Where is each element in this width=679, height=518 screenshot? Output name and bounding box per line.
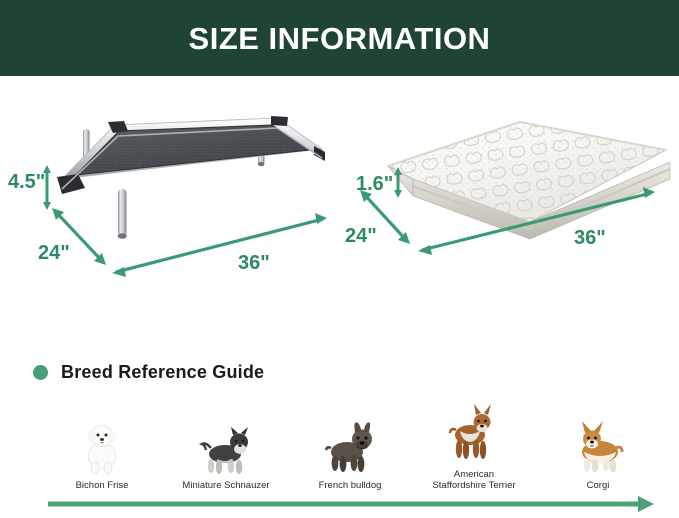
arrow-right-icon: [0, 492, 679, 518]
dog-bed-illustration: [0, 76, 340, 336]
page-title: SIZE INFORMATION: [189, 23, 491, 54]
dog-bed-height-label: 4.5": [8, 172, 45, 192]
breed-list: Bichon Frise: [40, 396, 660, 492]
mattress-length-label: 36": [574, 228, 606, 248]
breed-item-miniature-schnauzer: Miniature Schnauzer: [164, 396, 288, 492]
dog-bed-diagram: 4.5" 24" 36": [0, 76, 340, 336]
size-information-infographic: SIZE INFORMATION: [0, 0, 679, 518]
breed-reference-guide-heading: Breed Reference Guide: [33, 362, 264, 383]
breed-item-american-staffordshire-terrier: American Staffordshire Terrier: [412, 396, 536, 492]
breed-reference-guide-title: Breed Reference Guide: [61, 362, 264, 383]
mattress-width-label: 24": [345, 226, 377, 246]
corgi-dog-icon: [568, 412, 628, 478]
size-progression-arrow: [0, 492, 679, 518]
header-banner: SIZE INFORMATION: [0, 0, 679, 76]
breed-item-bichon-frise: Bichon Frise: [40, 396, 164, 492]
dog-bed-dimension-arrows: [0, 76, 340, 336]
bed-frame: [57, 116, 325, 194]
bed-legs: [83, 128, 265, 239]
diagram-area: 4.5" 24" 36": [0, 76, 679, 336]
breed-label: French bulldog: [319, 481, 382, 492]
breed-label: Corgi: [587, 481, 610, 492]
bichon-frise-dog-icon: [76, 412, 128, 478]
dog-bed-width-label: 24": [38, 243, 70, 263]
breed-item-corgi: Corgi: [536, 396, 660, 492]
dog-bed-length-label: 36": [238, 253, 270, 273]
mattress-height-label: 1.6": [356, 174, 393, 194]
bullet-dot-icon: [33, 365, 48, 380]
mattress-dimension-arrows: [340, 76, 679, 336]
breed-item-french-bulldog: French bulldog: [288, 396, 412, 492]
french-bulldog-dog-icon: [321, 412, 379, 478]
mattress-illustration: [340, 76, 679, 336]
breed-label: Miniature Schnauzer: [182, 481, 269, 492]
breed-label: Bichon Frise: [76, 481, 129, 492]
miniature-schnauzer-dog-icon: [197, 412, 255, 478]
breed-label: American Staffordshire Terrier: [432, 470, 515, 492]
mattress-diagram: 1.6" 24" 36": [340, 76, 679, 336]
american-staffordshire-terrier-dog-icon: [446, 401, 502, 467]
